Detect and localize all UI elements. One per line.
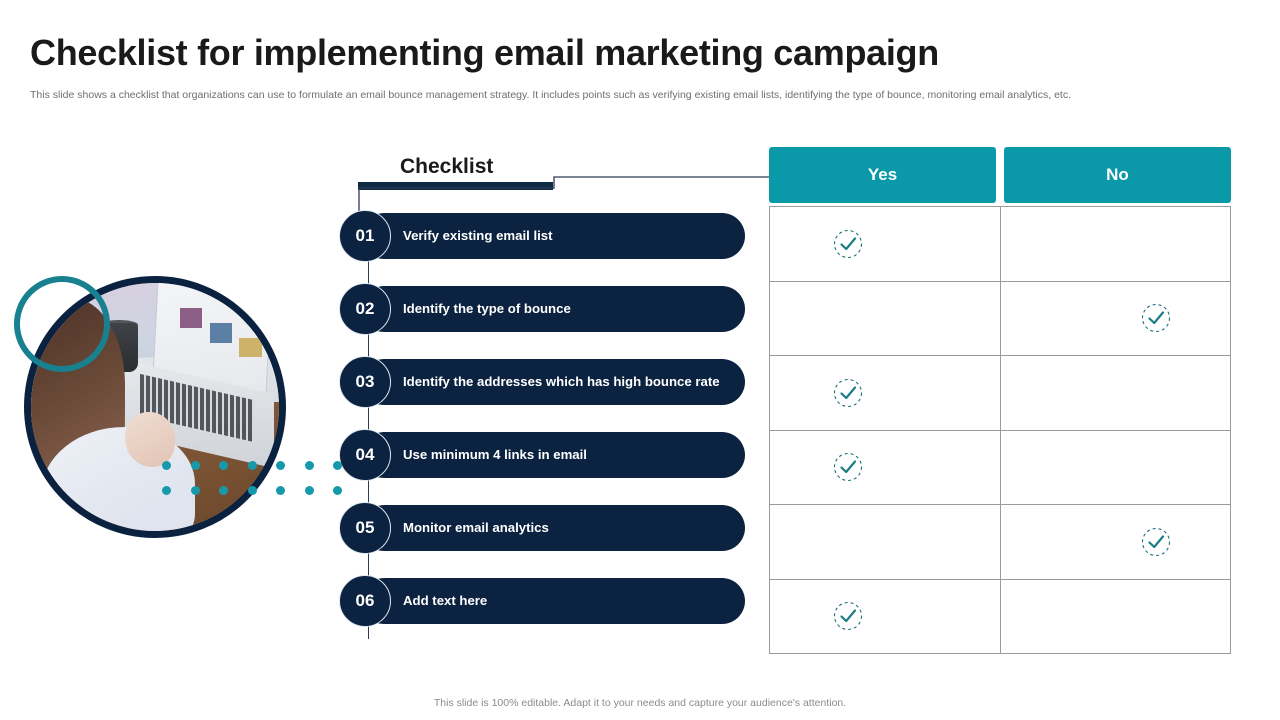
dot [305,461,314,470]
table-row [770,281,1231,356]
dot [162,461,171,470]
checklist-number-badge: 04 [339,429,391,481]
answer-cell-yes[interactable] [770,579,1001,654]
list-item[interactable]: 02 Identify the type of bounce [339,286,759,359]
answer-cell-no[interactable] [1000,505,1231,580]
checklist-item-label: Identify the type of bounce [403,286,733,332]
answer-table: Yes No [769,147,1231,654]
page-subtitle: This slide shows a checklist that organi… [30,88,1245,103]
list-item[interactable]: 05 Monitor email analytics [339,505,759,578]
dot [162,486,171,495]
checklist-number-badge: 02 [339,283,391,335]
footer-note: This slide is 100% editable. Adapt it to… [0,697,1280,709]
checklist-rows: 01 Verify existing email list 02 Identif… [339,213,759,651]
teal-ring-decoration [14,276,110,372]
connector-line [358,176,778,212]
dashed-circle-check-icon [1140,302,1172,334]
dot [276,486,285,495]
checklist-number-badge: 03 [339,356,391,408]
dot [248,486,257,495]
answer-cell-no[interactable] [1000,430,1231,505]
dashed-circle-check-icon [832,377,864,409]
column-header-no: No [1004,147,1231,203]
checklist-item-label: Identify the addresses which has high bo… [403,359,733,405]
dot [276,461,285,470]
table-row [770,579,1231,654]
checklist-item-label: Monitor email analytics [403,505,733,551]
table-row [770,505,1231,580]
answer-cell-yes[interactable] [770,281,1001,356]
table-row [770,356,1231,431]
dot [191,461,200,470]
answer-cell-no[interactable] [1000,579,1231,654]
checklist-number-badge: 01 [339,210,391,262]
answer-cell-no[interactable] [1000,207,1231,282]
dot [219,461,228,470]
list-item[interactable]: 04 Use minimum 4 links in email [339,432,759,505]
dot [333,461,342,470]
page-title: Checklist for implementing email marketi… [30,32,939,74]
list-item[interactable]: 06 Add text here [339,578,759,651]
dashed-circle-check-icon [832,451,864,483]
checklist-number-badge: 06 [339,575,391,627]
dot [333,486,342,495]
checklist-item-label: Verify existing email list [403,213,733,259]
column-header-yes: Yes [769,147,996,203]
checklist-item-label: Add text here [403,578,733,624]
table-row [770,207,1231,282]
answer-cell-yes[interactable] [770,430,1001,505]
checklist-item-label: Use minimum 4 links in email [403,432,733,478]
dot [191,486,200,495]
list-item[interactable]: 01 Verify existing email list [339,213,759,286]
answer-cell-no[interactable] [1000,356,1231,431]
dashed-circle-check-icon [1140,526,1172,558]
answer-table-body [769,206,1231,654]
dot [305,486,314,495]
dot-grid-decoration [162,461,342,511]
answer-cell-yes[interactable] [770,207,1001,282]
answer-table-header: Yes No [769,147,1231,203]
dashed-circle-check-icon [832,600,864,632]
answer-cell-yes[interactable] [770,505,1001,580]
checklist-number-badge: 05 [339,502,391,554]
answer-cell-no[interactable] [1000,281,1231,356]
list-item[interactable]: 03 Identify the addresses which has high… [339,359,759,432]
answer-cell-yes[interactable] [770,356,1001,431]
dashed-circle-check-icon [832,228,864,260]
table-row [770,430,1231,505]
dot [248,461,257,470]
dot [219,486,228,495]
